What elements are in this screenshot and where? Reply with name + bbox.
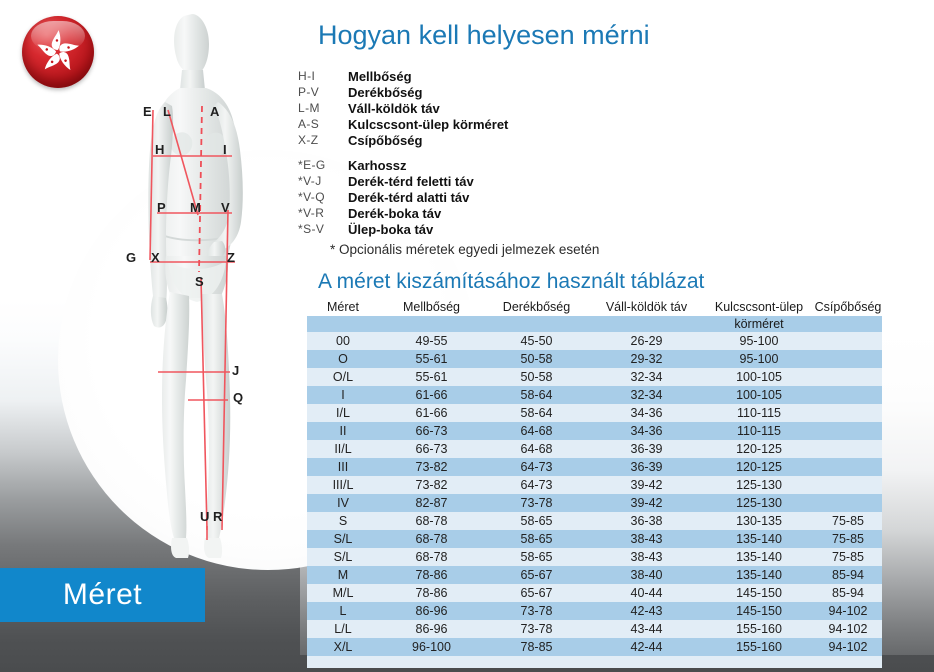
cell-chest: 68-78 — [379, 512, 484, 530]
table-row: S68-7858-6536-38130-13575-85 — [307, 512, 882, 530]
cell-hip: 75-85 — [814, 548, 882, 566]
cell-shoulder-navel: 40-44 — [589, 584, 704, 602]
cell-shoulder-navel: 34-36 — [589, 422, 704, 440]
legend-item: *S-V Ülep-boka táv — [298, 221, 474, 237]
pad-cell — [484, 656, 589, 668]
cell-collar-seat: 155-160 — [704, 620, 814, 638]
cell-waist: 58-64 — [484, 386, 589, 404]
subheader-blank-2 — [484, 316, 589, 332]
cell-size: III — [307, 458, 379, 476]
cell-shoulder-navel: 42-43 — [589, 602, 704, 620]
cell-waist: 58-65 — [484, 530, 589, 548]
cell-collar-seat: 125-130 — [704, 494, 814, 512]
table-row: III73-8264-7336-39120-125 — [307, 458, 882, 476]
col-header-shoulder-navel: Váll-köldök táv — [589, 300, 704, 316]
cell-hip — [814, 494, 882, 512]
table-title: A méret kiszámításához használt táblázat — [318, 270, 704, 294]
cell-size: IV — [307, 494, 379, 512]
cell-chest: 66-73 — [379, 440, 484, 458]
pad-cell — [379, 656, 484, 668]
legend-code: X-Z — [298, 133, 348, 147]
table-body: 0049-5545-5026-2995-100O55-6150-5829-329… — [307, 332, 882, 668]
legend-desc: Derék-térd alatti táv — [348, 190, 469, 205]
subheader-collar-seat: körméret — [704, 316, 814, 332]
table-row: III/L73-8264-7339-42125-130 — [307, 476, 882, 494]
cell-hip — [814, 458, 882, 476]
cell-chest: 78-86 — [379, 584, 484, 602]
cell-shoulder-navel: 38-43 — [589, 530, 704, 548]
table-row: M78-8665-6738-40135-14085-94 — [307, 566, 882, 584]
cell-chest: 86-96 — [379, 602, 484, 620]
cell-chest: 61-66 — [379, 386, 484, 404]
legend-code: P-V — [298, 85, 348, 99]
legend-code: L-M — [298, 101, 348, 115]
subheader-blank-0 — [307, 316, 379, 332]
cell-waist: 64-73 — [484, 458, 589, 476]
pad-cell — [589, 656, 704, 668]
table-row: L/L86-9673-7843-44155-16094-102 — [307, 620, 882, 638]
cell-shoulder-navel: 43-44 — [589, 620, 704, 638]
legend-item: X-Z Csípőbőség — [298, 132, 508, 148]
legend-item: *E-G Karhossz — [298, 157, 474, 173]
cell-collar-seat: 130-135 — [704, 512, 814, 530]
marker-J: J — [232, 364, 239, 377]
cell-chest: 68-78 — [379, 530, 484, 548]
mannequin-diagram: E L A H I P M V G X Z S J Q U R — [110, 10, 300, 570]
cell-waist: 58-65 — [484, 512, 589, 530]
cell-waist: 58-65 — [484, 548, 589, 566]
cell-size: L/L — [307, 620, 379, 638]
table-header-row: Méret Mellbőség Derékbőség Váll-köldök t… — [307, 300, 882, 316]
cell-size: I/L — [307, 404, 379, 422]
cell-collar-seat: 110-115 — [704, 404, 814, 422]
size-table: Méret Mellbőség Derékbőség Váll-köldök t… — [307, 300, 882, 668]
table-row: O/L55-6150-5832-34100-105 — [307, 368, 882, 386]
legend-primary: H-I Mellbőség P-V Derékbőség L-M Váll-kö… — [298, 68, 508, 148]
table-row: IV82-8773-7839-42125-130 — [307, 494, 882, 512]
cell-size: II — [307, 422, 379, 440]
cell-shoulder-navel: 26-29 — [589, 332, 704, 350]
legend-code: *V-Q — [298, 190, 348, 204]
page-title: Hogyan kell helyesen mérni — [318, 20, 650, 51]
cell-hip — [814, 368, 882, 386]
cell-hip — [814, 440, 882, 458]
col-header-waist: Derékbőség — [484, 300, 589, 316]
marker-L: L — [163, 105, 171, 118]
cell-chest: 55-61 — [379, 368, 484, 386]
marker-I: I — [223, 143, 227, 156]
legend-code: H-I — [298, 69, 348, 83]
cell-size: II/L — [307, 440, 379, 458]
cell-waist: 64-73 — [484, 476, 589, 494]
col-header-chest: Mellbőség — [379, 300, 484, 316]
legend-desc: Csípőbőség — [348, 133, 422, 148]
cell-collar-seat: 100-105 — [704, 368, 814, 386]
table-row: S/L68-7858-6538-43135-14075-85 — [307, 530, 882, 548]
subheader-blank-5 — [814, 316, 882, 332]
table-row: L86-9673-7842-43145-15094-102 — [307, 602, 882, 620]
cell-waist: 50-58 — [484, 350, 589, 368]
cell-chest: 61-66 — [379, 404, 484, 422]
cell-waist: 73-78 — [484, 620, 589, 638]
cell-chest: 86-96 — [379, 620, 484, 638]
legend-desc: Ülep-boka táv — [348, 222, 433, 237]
cell-waist: 73-78 — [484, 494, 589, 512]
cell-hip — [814, 350, 882, 368]
legend-desc: Váll-köldök táv — [348, 101, 440, 116]
legend-desc: Derékbőség — [348, 85, 422, 100]
cell-collar-seat: 145-150 — [704, 602, 814, 620]
legend-desc: Karhossz — [348, 158, 407, 173]
legend-desc: Derék-boka táv — [348, 206, 441, 221]
cell-collar-seat: 125-130 — [704, 476, 814, 494]
cell-hip: 94-102 — [814, 620, 882, 638]
table-row: 0049-5545-5026-2995-100 — [307, 332, 882, 350]
cell-hip: 75-85 — [814, 512, 882, 530]
table-row: II/L66-7364-6836-39120-125 — [307, 440, 882, 458]
legend-optional: *E-G Karhossz *V-J Derék-térd feletti tá… — [298, 157, 474, 237]
cell-chest: 96-100 — [379, 638, 484, 656]
cell-size: S/L — [307, 530, 379, 548]
cell-waist: 65-67 — [484, 566, 589, 584]
cell-collar-seat: 145-150 — [704, 584, 814, 602]
cell-waist: 45-50 — [484, 332, 589, 350]
cell-chest: 73-82 — [379, 476, 484, 494]
cell-size: 00 — [307, 332, 379, 350]
cell-size: O — [307, 350, 379, 368]
cell-waist: 73-78 — [484, 602, 589, 620]
cell-hip: 85-94 — [814, 566, 882, 584]
cell-shoulder-navel: 39-42 — [589, 476, 704, 494]
legend-desc: Derék-térd feletti táv — [348, 174, 474, 189]
cell-collar-seat: 120-125 — [704, 458, 814, 476]
optional-measurements-footnote: * Opcionális méretek egyedi jelmezek ese… — [330, 242, 599, 257]
legend-code: *S-V — [298, 222, 348, 236]
cell-shoulder-navel: 36-39 — [589, 458, 704, 476]
legend-item: H-I Mellbőség — [298, 68, 508, 84]
cell-collar-seat: 100-105 — [704, 386, 814, 404]
cell-shoulder-navel: 42-44 — [589, 638, 704, 656]
cell-hip: 85-94 — [814, 584, 882, 602]
marker-P: P — [157, 201, 166, 214]
legend-code: *E-G — [298, 158, 348, 172]
cell-chest: 49-55 — [379, 332, 484, 350]
cell-size: III/L — [307, 476, 379, 494]
cell-waist: 64-68 — [484, 422, 589, 440]
cell-chest: 78-86 — [379, 566, 484, 584]
cell-collar-seat: 135-140 — [704, 548, 814, 566]
table-footer-pad — [307, 656, 882, 668]
legend-desc: Mellbőség — [348, 69, 412, 84]
subheader-blank-1 — [379, 316, 484, 332]
cell-chest: 73-82 — [379, 458, 484, 476]
cell-waist: 65-67 — [484, 584, 589, 602]
legend-desc: Kulcscsont-ülep körméret — [348, 117, 508, 132]
table-row: II66-7364-6834-36110-115 — [307, 422, 882, 440]
cell-chest: 55-61 — [379, 350, 484, 368]
cell-shoulder-navel: 32-34 — [589, 368, 704, 386]
marker-R: R — [213, 510, 222, 523]
cell-shoulder-navel: 34-36 — [589, 404, 704, 422]
cell-collar-seat: 135-140 — [704, 530, 814, 548]
cell-hip — [814, 404, 882, 422]
legend-code: *V-R — [298, 206, 348, 220]
legend-code: *V-J — [298, 174, 348, 188]
cell-hip — [814, 332, 882, 350]
cell-shoulder-navel: 38-40 — [589, 566, 704, 584]
meret-banner: Méret — [0, 568, 205, 622]
cell-hip — [814, 386, 882, 404]
legend-item: A-S Kulcscsont-ülep körméret — [298, 116, 508, 132]
bauhinia-flower-icon — [32, 26, 84, 78]
cell-waist: 58-64 — [484, 404, 589, 422]
cell-shoulder-navel: 36-39 — [589, 440, 704, 458]
cell-size: S — [307, 512, 379, 530]
table-row: I61-6658-6432-34100-105 — [307, 386, 882, 404]
cell-collar-seat: 120-125 — [704, 440, 814, 458]
marker-E: E — [143, 105, 152, 118]
marker-V: V — [221, 201, 230, 214]
marker-M: M — [190, 201, 201, 214]
cell-hip: 94-102 — [814, 602, 882, 620]
pad-cell — [704, 656, 814, 668]
legend-item: P-V Derékbőség — [298, 84, 508, 100]
subheader-blank-3 — [589, 316, 704, 332]
cell-size: X/L — [307, 638, 379, 656]
marker-Q: Q — [233, 391, 243, 404]
cell-collar-seat: 95-100 — [704, 332, 814, 350]
cell-shoulder-navel: 32-34 — [589, 386, 704, 404]
cell-hip: 75-85 — [814, 530, 882, 548]
cell-hip: 94-102 — [814, 638, 882, 656]
cell-waist: 78-85 — [484, 638, 589, 656]
cell-shoulder-navel: 36-38 — [589, 512, 704, 530]
cell-chest: 68-78 — [379, 548, 484, 566]
cell-shoulder-navel: 39-42 — [589, 494, 704, 512]
hong-kong-bauhinia-emblem-icon — [22, 16, 94, 88]
marker-G: G — [126, 251, 136, 264]
cell-size: O/L — [307, 368, 379, 386]
cell-hip — [814, 422, 882, 440]
cell-size: L — [307, 602, 379, 620]
cell-shoulder-navel: 29-32 — [589, 350, 704, 368]
cell-hip — [814, 476, 882, 494]
table-row: O55-6150-5829-3295-100 — [307, 350, 882, 368]
legend-code: A-S — [298, 117, 348, 131]
cell-collar-seat: 135-140 — [704, 566, 814, 584]
cell-size: I — [307, 386, 379, 404]
col-header-hip: Csípőbőség — [814, 300, 882, 316]
marker-Z: Z — [227, 251, 235, 264]
mannequin-figure-icon — [110, 10, 300, 570]
cell-size: M — [307, 566, 379, 584]
cell-size: S/L — [307, 548, 379, 566]
meret-banner-label: Méret — [63, 578, 142, 612]
table-row: X/L96-10078-8542-44155-16094-102 — [307, 638, 882, 656]
legend-item: *V-R Derék-boka táv — [298, 205, 474, 221]
page-root: E L A H I P M V G X Z S J Q U R Méret Ho… — [0, 0, 934, 672]
table-row: I/L61-6658-6434-36110-115 — [307, 404, 882, 422]
legend-item: *V-Q Derék-térd alatti táv — [298, 189, 474, 205]
pad-cell — [814, 656, 882, 668]
col-header-size: Méret — [307, 300, 379, 316]
cell-collar-seat: 155-160 — [704, 638, 814, 656]
col-header-collar-seat: Kulcscsont-ülep — [704, 300, 814, 316]
cell-chest: 82-87 — [379, 494, 484, 512]
table-row: M/L78-8665-6740-44145-15085-94 — [307, 584, 882, 602]
cell-collar-seat: 95-100 — [704, 350, 814, 368]
table-row: S/L68-7858-6538-43135-14075-85 — [307, 548, 882, 566]
marker-H: H — [155, 143, 164, 156]
cell-collar-seat: 110-115 — [704, 422, 814, 440]
marker-U: U — [200, 510, 209, 523]
marker-S: S — [195, 275, 204, 288]
legend-item: L-M Váll-köldök táv — [298, 100, 508, 116]
cell-waist: 50-58 — [484, 368, 589, 386]
cell-waist: 64-68 — [484, 440, 589, 458]
marker-A: A — [210, 105, 219, 118]
pad-cell — [307, 656, 379, 668]
cell-shoulder-navel: 38-43 — [589, 548, 704, 566]
marker-X: X — [151, 251, 160, 264]
legend-item: *V-J Derék-térd feletti táv — [298, 173, 474, 189]
table-subheader-row: körméret — [307, 316, 882, 332]
cell-chest: 66-73 — [379, 422, 484, 440]
cell-size: M/L — [307, 584, 379, 602]
